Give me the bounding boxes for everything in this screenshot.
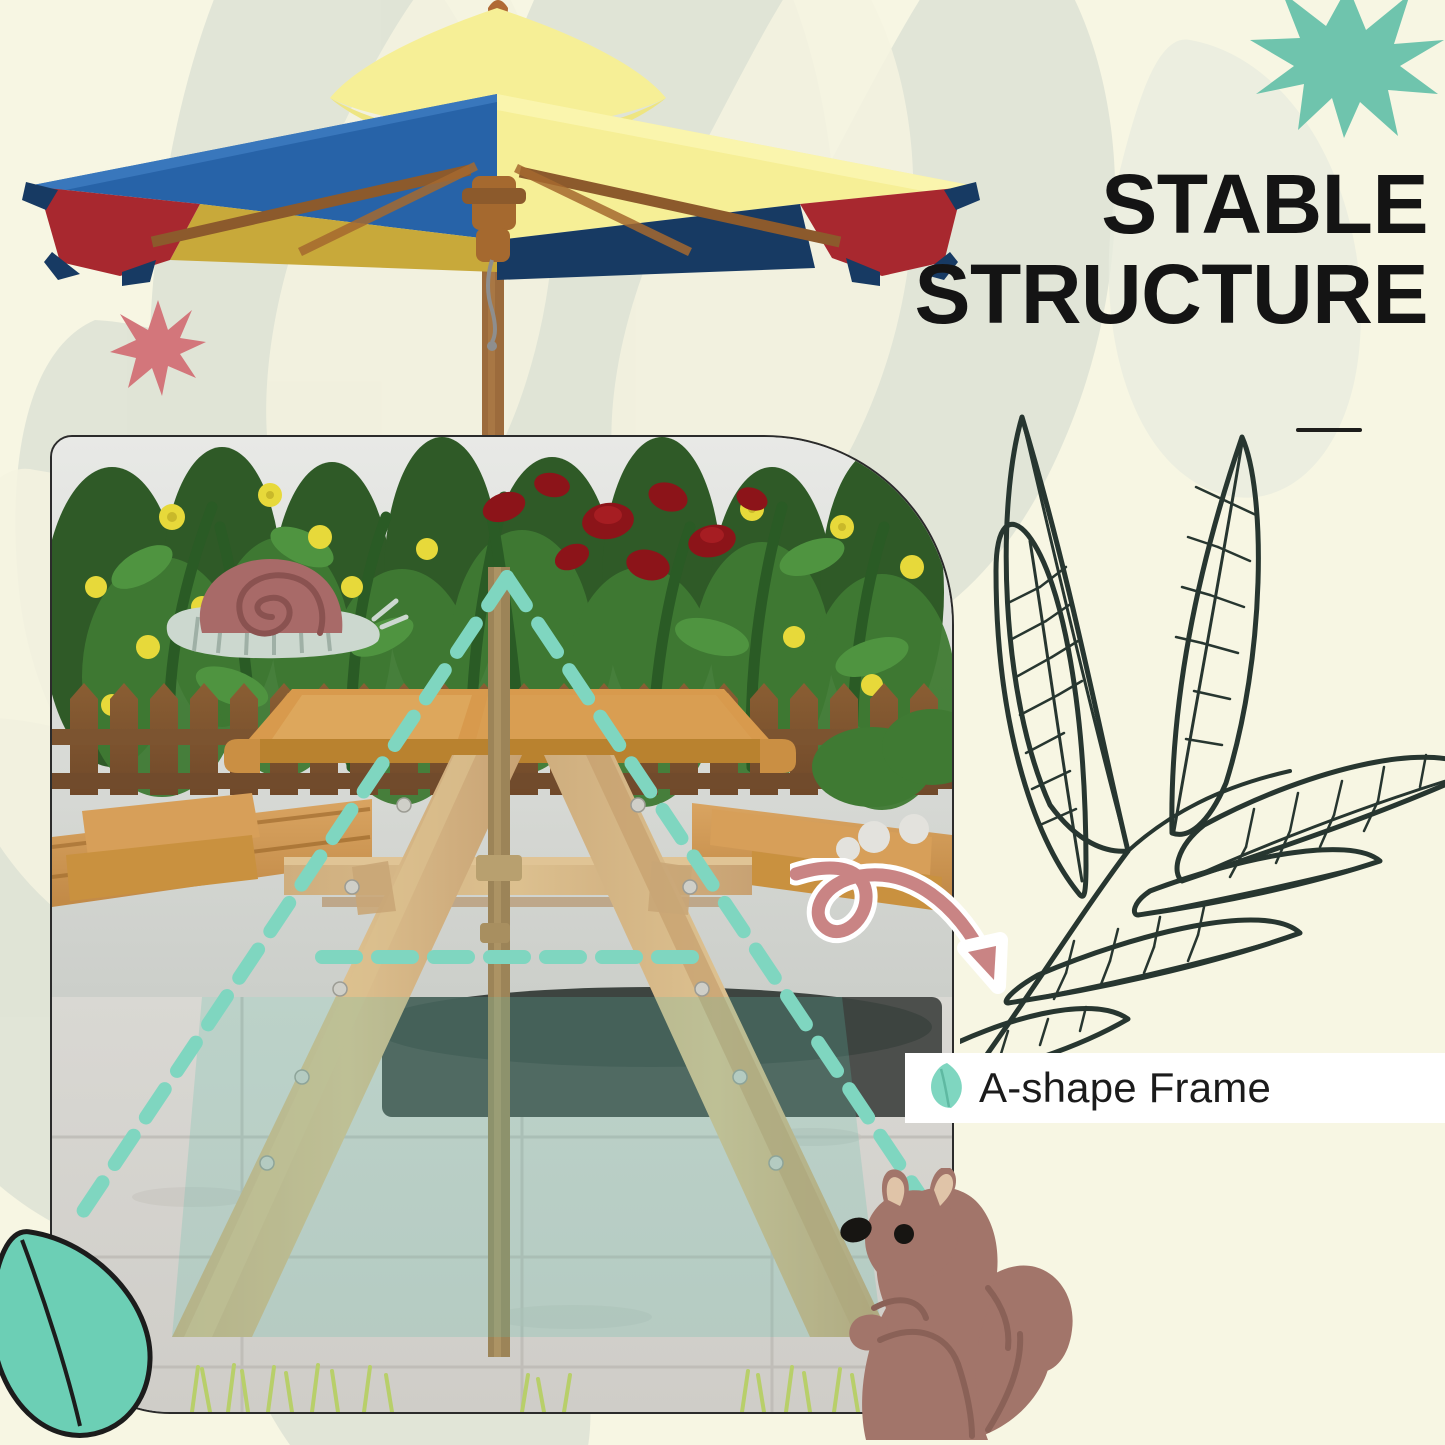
squirrel-sticker-icon — [822, 1168, 1082, 1445]
marketing-image: STABLE STRUCTURE — [0, 0, 1445, 1445]
leaf-mint-bottom-left-icon — [0, 1218, 170, 1445]
curly-arrow-icon — [790, 858, 1060, 1063]
leaf-icon — [927, 1061, 967, 1116]
badge-label: A-shape Frame — [979, 1064, 1271, 1112]
starburst-teal-top-right-icon — [1248, 0, 1445, 143]
page-title: STABLE STRUCTURE — [838, 160, 1428, 340]
status-badge[interactable]: A-shape Frame — [905, 1053, 1445, 1123]
starburst-rose-icon — [108, 298, 208, 403]
